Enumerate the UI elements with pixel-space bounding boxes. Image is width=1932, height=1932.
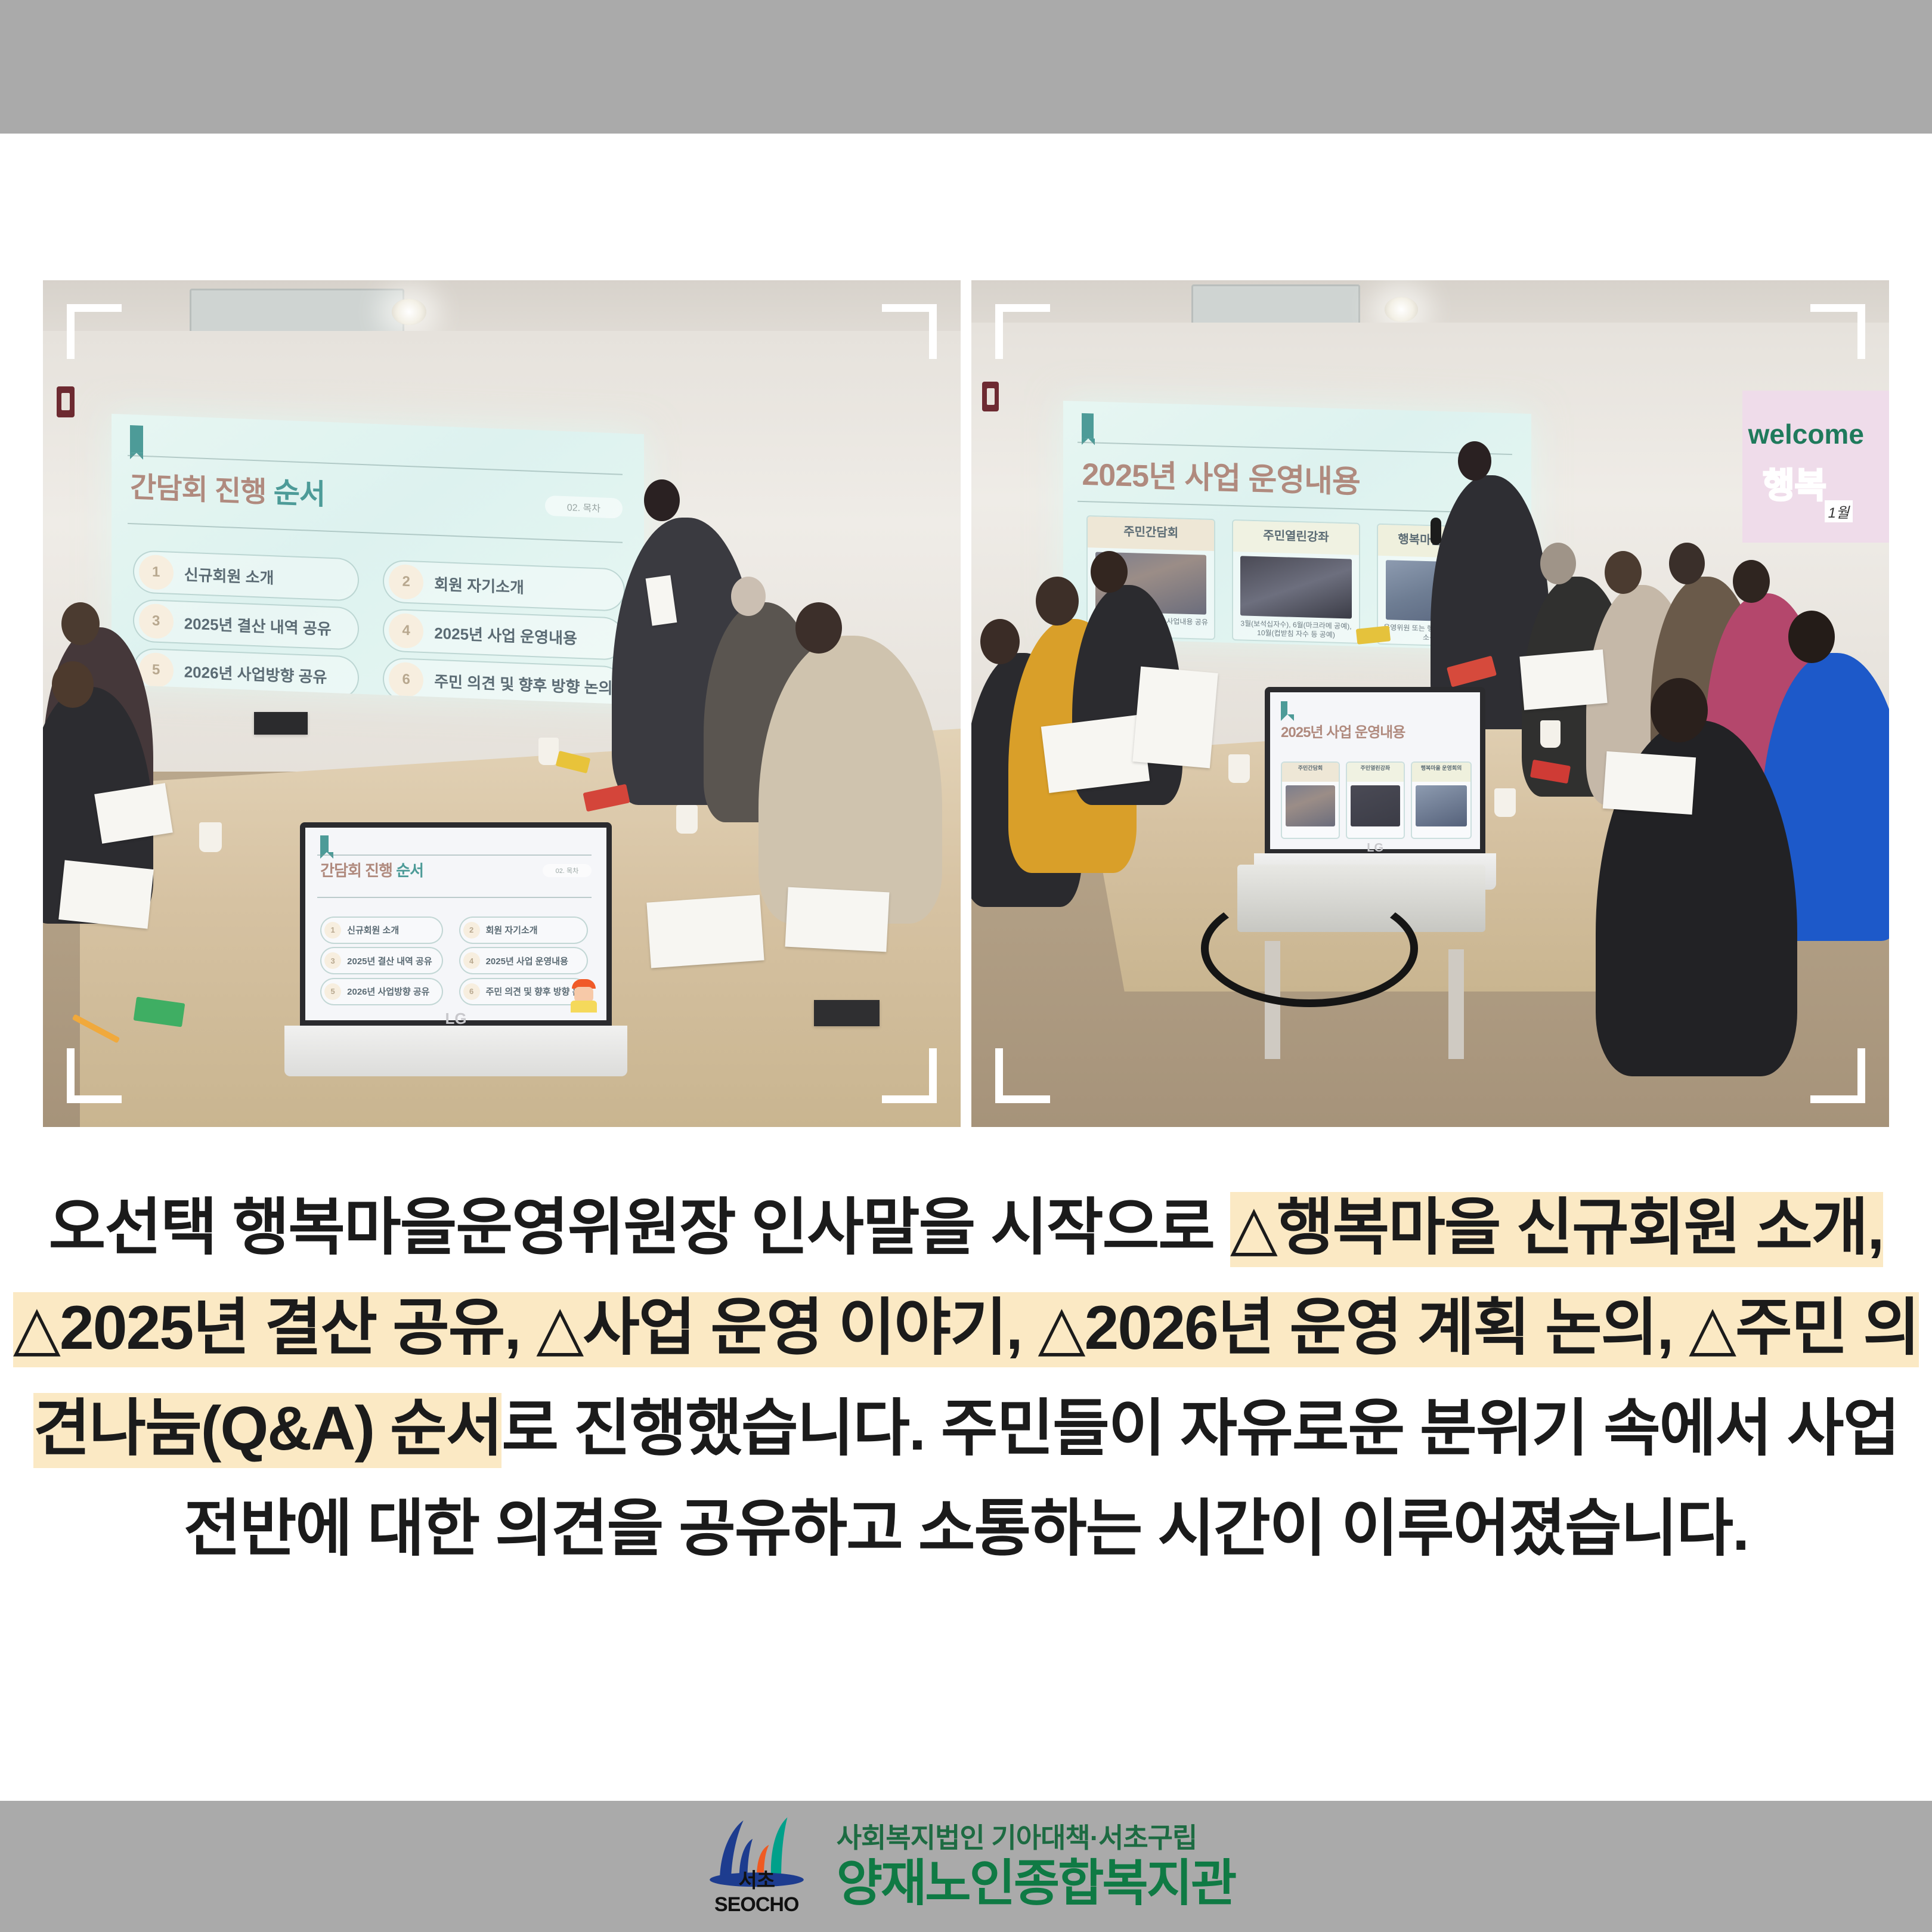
photo-gallery: 간담회 진행 순서 02. 목차 1 신규회원 소개 2 회원 자기소개 3 2… — [43, 280, 1889, 1127]
handout-paper — [1603, 751, 1696, 815]
laptop-slide-badge: 02. 목차 — [543, 864, 592, 877]
notebook — [814, 1000, 880, 1026]
slide-item-3: 3 2025년 결산 내역 공유 — [133, 599, 359, 651]
presenter-head — [1458, 441, 1491, 481]
attendee-head — [731, 577, 766, 616]
attendee-head — [1036, 577, 1079, 626]
laptop-slide-title-accent: 순서 — [396, 862, 423, 880]
slide-title-right: 2025년 사업 운영내용 — [1082, 448, 1360, 501]
handout-paper — [1520, 649, 1608, 710]
laptop-card-1-caption: 주민간담회 — [1282, 763, 1339, 782]
bookmark-icon — [1281, 701, 1287, 714]
attendee-head — [1733, 560, 1770, 603]
caption-paragraph: 오선택 행복마을운영위원장 인사말을 시작으로 △행복마을 신규회원 소개, △… — [0, 1178, 1932, 1580]
slide-item-3-label: 2025년 결산 내역 공유 — [184, 611, 332, 639]
laptop-screen-right: 2025년 사업 운영내용 주민간담회 주민열린강좌 행복마을 운영회의 — [1270, 692, 1479, 850]
slide-item-6-num: 6 — [389, 662, 424, 698]
org-parent-name: 사회복지법인 기아대책·서초구립 — [837, 1823, 1236, 1852]
slide-item-1-label: 신규회원 소개 — [184, 563, 274, 589]
presenter-head — [644, 479, 680, 521]
laptop-card-2-caption: 주민열린강좌 — [1347, 763, 1404, 782]
bookmark-icon — [1082, 413, 1094, 439]
laptop-item-6-num: 6 — [463, 983, 480, 1000]
laptop-slide-title: 간담회 진행 순서 — [320, 859, 423, 881]
slide-item-5-num: 5 — [139, 652, 174, 688]
slide-item-2-num: 2 — [389, 564, 424, 600]
laptop-item-3-num: 3 — [324, 952, 341, 969]
right-photo[interactable]: 2025년 사업 운영내용 주민간담회 2024년도 결산, 2024년 사업내… — [971, 280, 1889, 1127]
laptop-item-4-num: 4 — [463, 952, 480, 969]
attendee-head — [1651, 678, 1708, 742]
ceiling-downlight — [1385, 297, 1418, 322]
slide-card-2-sub: 3월(보석십자수), 6월(마크라메 공예), 10월(컵받침 자수 등 공예) — [1238, 619, 1354, 640]
paper-cup — [538, 738, 559, 765]
slide-title-accent: 순서 — [274, 477, 325, 510]
paper-cup — [676, 805, 698, 834]
banner-welcome-text: welcome — [1748, 418, 1864, 450]
slide-item-6-label: 주민 의견 및 향후 방향 논의 — [435, 670, 613, 698]
attendee-head — [1540, 543, 1576, 584]
caption-segment-1: 오선택 행복마을운영위원장 인사말을 시작으로 — [49, 1193, 1230, 1262]
org-center-name: 양재노인종합복지관 — [837, 1857, 1236, 1909]
laptop-item-3: 3 2025년 결산 내역 공유 — [320, 947, 443, 974]
laptop-slide-title-main: 간담회 진행 — [320, 862, 392, 880]
slide-card-2-photo — [1240, 556, 1352, 619]
slide-rule-top — [317, 854, 592, 856]
slide-rule-mid — [128, 523, 623, 543]
laptop-item-4-label: 2025년 사업 운영내용 — [486, 955, 568, 967]
ceiling-downlight — [392, 299, 426, 325]
slide-card-2: 주민열린강좌 3월(보석십자수), 6월(마크라메 공예), 10월(컵받침 자… — [1231, 519, 1360, 644]
laptop-item-2: 2 회원 자기소개 — [459, 917, 588, 944]
paper-cup — [1228, 754, 1250, 783]
laptop-item-1: 1 신규회원 소개 — [320, 917, 443, 944]
slide-item-1-num: 1 — [139, 555, 174, 590]
slide-item-5-label: 2026년 사업방향 공유 — [184, 660, 327, 688]
laptop-card-3-caption: 행복마을 운영회의 — [1412, 763, 1470, 782]
banner-month-text: 1월 — [1825, 500, 1853, 522]
laptop-item-1-label: 신규회원 소개 — [347, 924, 399, 936]
attendee-head — [1669, 543, 1705, 584]
slide-badge-left: 02. 목차 — [545, 496, 623, 519]
laptop-item-5-num: 5 — [324, 983, 341, 1000]
slide-card-1-caption: 주민간담회 — [1088, 516, 1214, 551]
laptop-card-1: 주민간담회 — [1281, 761, 1340, 840]
laptop-right: 2025년 사업 운영내용 주민간담회 주민열린강좌 행복마을 운영회의 LG — [1265, 687, 1485, 890]
handout-paper — [646, 894, 764, 968]
paper-cup — [1540, 720, 1561, 748]
slide-rule-mid — [1077, 501, 1512, 514]
attendee-head — [1605, 551, 1642, 594]
slide-item-3-num: 3 — [139, 603, 174, 639]
bookmark-icon — [320, 835, 329, 852]
laptop-item-4: 4 2025년 사업 운영내용 — [459, 947, 588, 974]
laptop-item-2-num: 2 — [463, 922, 480, 939]
projected-slide-left: 간담회 진행 순서 02. 목차 1 신규회원 소개 2 회원 자기소개 3 2… — [112, 414, 644, 705]
seocho-wordmark: 서초 SEOCHO — [697, 1864, 816, 1916]
banner-happy-text: 행복 — [1763, 457, 1826, 507]
slide-item-2-label: 회원 자기소개 — [435, 572, 525, 598]
laptop-item-5: 5 2026년 사업방향 공유 — [320, 978, 443, 1005]
handout-paper — [1132, 667, 1218, 769]
slide-title-main: 간담회 진행 — [131, 472, 267, 509]
attendee-head — [795, 602, 842, 654]
footer-logo-block: 서초 SEOCHO 사회복지법인 기아대책·서초구립 양재노인종합복지관 — [0, 1801, 1932, 1932]
laptop-card-2-photo — [1351, 785, 1400, 827]
attendee-head — [1788, 611, 1835, 663]
paper-cup — [199, 822, 222, 852]
slide-item-2: 2 회원 자기소개 — [383, 560, 626, 612]
attendee-head — [980, 619, 1020, 664]
wall-banner: welcome 행복 1월 — [1742, 391, 1889, 543]
slide-item-4-num: 4 — [389, 613, 424, 649]
laptop-item-3-label: 2025년 결산 내역 공유 — [347, 955, 432, 967]
bookmark-icon — [131, 426, 144, 454]
laptop-card-3: 행복마을 운영회의 — [1411, 761, 1472, 840]
wall-switch — [57, 386, 75, 417]
table-leg — [1448, 949, 1464, 1060]
laptop-item-1-num: 1 — [324, 922, 341, 939]
attendee-head — [61, 602, 100, 645]
wall-switch — [982, 382, 999, 411]
top-gray-band — [0, 0, 1932, 134]
power-cable — [1201, 890, 1419, 1007]
notebook — [254, 712, 308, 735]
slide-title-left: 간담회 진행 순서 — [131, 463, 326, 513]
slide-item-4: 4 2025년 사업 운영내용 — [383, 609, 626, 661]
laptop-card-3-photo — [1416, 785, 1467, 827]
attendee-head — [52, 661, 94, 708]
attendee-head — [1091, 551, 1128, 593]
organization-names: 사회복지법인 기아대책·서초구립 양재노인종합복지관 — [837, 1823, 1236, 1909]
microphone-icon — [1431, 518, 1441, 545]
laptop-card-1-photo — [1286, 785, 1335, 827]
laptop-item-5-label: 2026년 사업방향 공유 — [347, 985, 429, 998]
slide-rule-mid — [317, 897, 592, 898]
slide-item-4-label: 2025년 사업 운영내용 — [435, 621, 578, 649]
handout-paper — [785, 887, 889, 952]
left-photo[interactable]: 간담회 진행 순서 02. 목차 1 신규회원 소개 2 회원 자기소개 3 2… — [43, 280, 961, 1127]
laptop-keyboard — [284, 1026, 628, 1076]
laptop-card-2: 주민열린강좌 — [1346, 761, 1405, 840]
laptop-screen-left: 간담회 진행 순서 02. 목차 1 신규회원 소개 2 회원 자기소개 3 2… — [305, 828, 606, 1020]
slide-card-2-caption: 주민열린강좌 — [1233, 521, 1359, 555]
slide-item-1: 1 신규회원 소개 — [133, 550, 359, 602]
laptop-item-2-label: 회원 자기소개 — [486, 924, 538, 936]
paper-cup — [1494, 788, 1516, 817]
handout-paper — [58, 860, 154, 928]
seocho-logo-mark: 서초 SEOCHO — [697, 1816, 816, 1916]
laptop-slide-title-right: 2025년 사업 운영내용 — [1281, 720, 1405, 741]
laptop-left: 간담회 진행 순서 02. 목차 1 신규회원 소개 2 회원 자기소개 3 2… — [300, 822, 612, 1076]
